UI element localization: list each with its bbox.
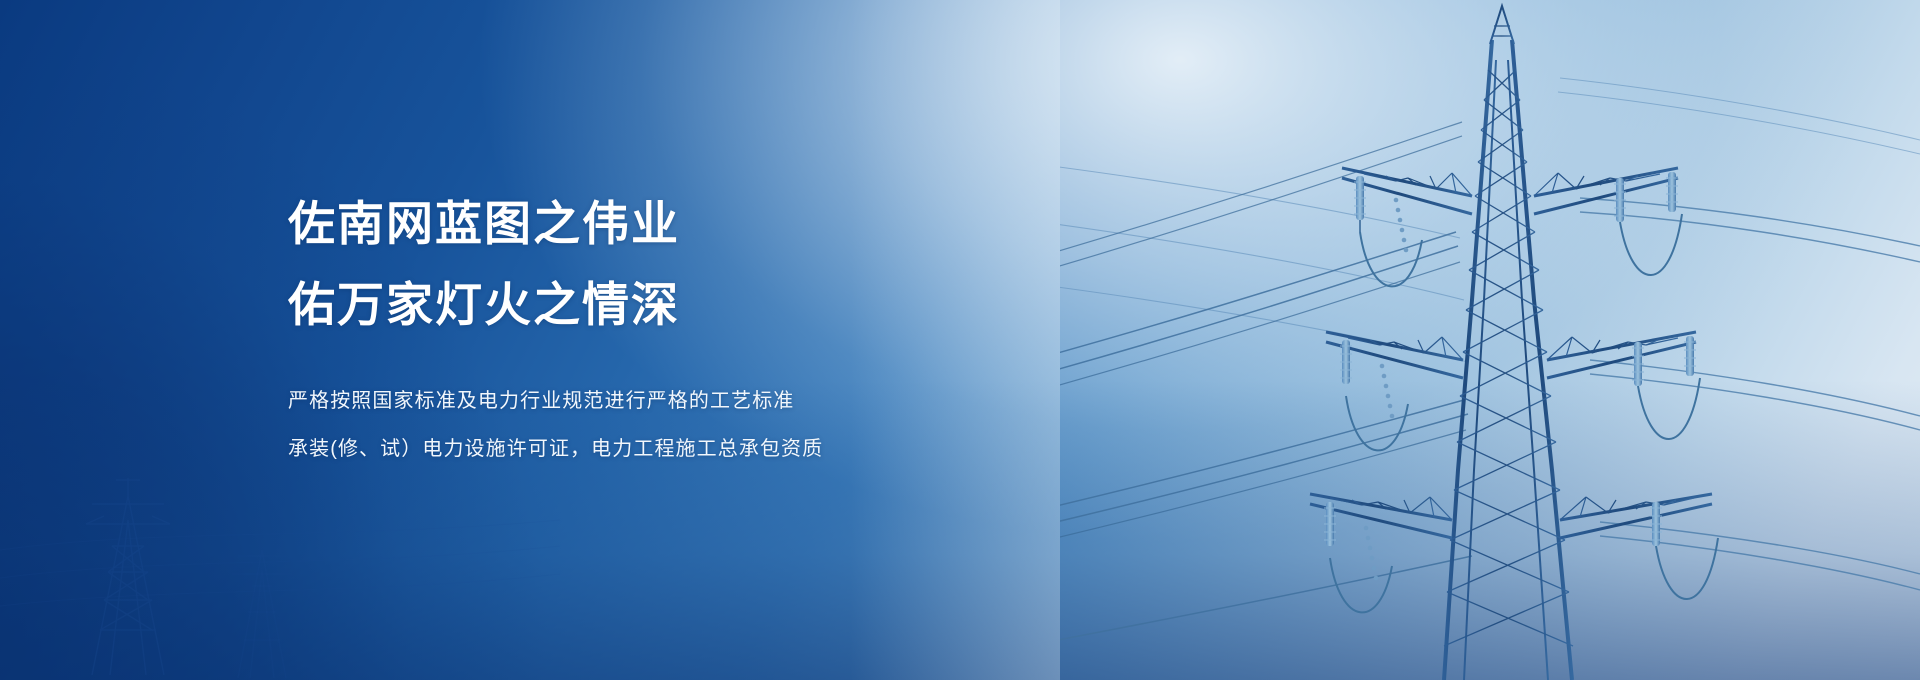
banner-subtitle-group: 严格按照国家标准及电力行业规范进行严格的工艺标准 承装(修、试）电力设施许可证，…: [288, 377, 1108, 473]
banner-headline-line-1: 佐南网蓝图之伟业: [288, 190, 1108, 258]
transmission-tower-image: [1060, 0, 1920, 680]
hero-banner: 佐南网蓝图之伟业 佑万家灯火之情深 严格按照国家标准及电力行业规范进行严格的工艺…: [0, 0, 1920, 680]
banner-headline-line-2: 佑万家灯火之情深: [288, 271, 1108, 339]
banner-subtitle-line-1: 严格按照国家标准及电力行业规范进行严格的工艺标准: [288, 377, 1108, 425]
banner-copy: 佐南网蓝图之伟业 佑万家灯火之情深 严格按照国家标准及电力行业规范进行严格的工艺…: [288, 190, 1108, 473]
banner-subtitle-line-2: 承装(修、试）电力设施许可证，电力工程施工总承包资质: [288, 425, 1108, 473]
